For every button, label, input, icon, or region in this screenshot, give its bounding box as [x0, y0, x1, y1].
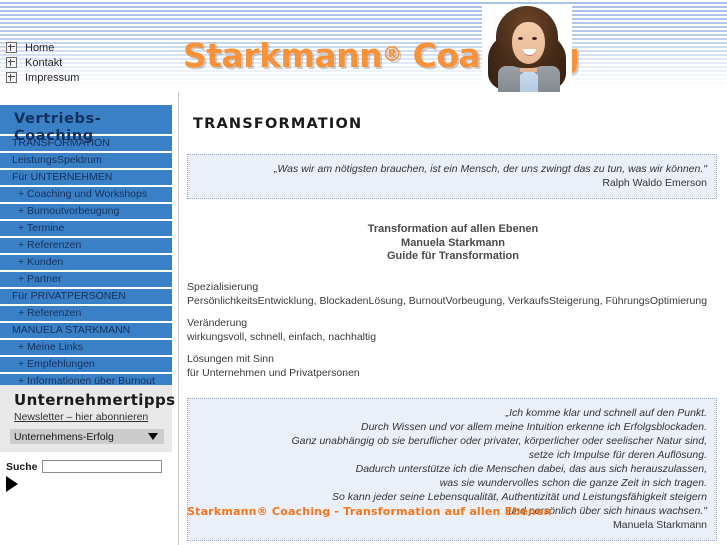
sidebar: Vertriebs-Coaching TRANSFORMATION Leistu…	[0, 105, 172, 406]
search-label: Suche	[6, 461, 38, 473]
chevron-down-icon	[148, 433, 158, 440]
main-content: TRANSFORMATION „Was wir am nötigsten bra…	[178, 92, 727, 545]
bottom-quote-line-5: Dadurch unterstütze ich die Menschen dab…	[197, 462, 707, 476]
registered-trademark-icon: ®	[382, 42, 402, 66]
topnav-item-home[interactable]: Home	[0, 40, 170, 55]
sidebar-item-leistungsspektrum[interactable]: LeistungsSpektrum	[0, 153, 172, 168]
topnav-label-impressum: Impressum	[25, 72, 79, 84]
play-arrow-icon[interactable]	[6, 476, 18, 492]
bottom-quote-line-1: „Ich komme klar und schnell auf den Punk…	[197, 406, 707, 420]
spacer	[187, 308, 727, 316]
headline-line-1: Transformation auf allen Ebenen	[179, 223, 727, 237]
topnav-item-impressum[interactable]: Impressum	[0, 70, 170, 85]
sidebar-title: Vertriebs-Coaching	[0, 105, 172, 134]
top-quote-box: „Was wir am nötigsten brauchen, ist ein …	[187, 154, 717, 199]
plus-box-icon	[6, 42, 17, 53]
logo-word-starkmann: Starkmann	[183, 36, 382, 75]
unternehmertipps-title: Unternehmertipps	[0, 391, 172, 409]
headline-block: Transformation auf allen Ebenen Manuela …	[179, 223, 727, 264]
search-input[interactable]	[42, 460, 162, 473]
top-navigation: Home Kontakt Impressum	[0, 40, 170, 85]
plus-box-icon	[6, 57, 17, 68]
headline-line-2: Manuela Starkmann	[179, 237, 727, 251]
page-title: TRANSFORMATION	[193, 116, 727, 132]
topnav-label-home: Home	[25, 42, 54, 54]
sidebar-item-coaching-und-workshops[interactable]: + Coaching und Workshops	[0, 187, 172, 202]
sidebar-item-kunden[interactable]: + Kunden	[0, 255, 172, 270]
right-eye-shape	[532, 37, 537, 40]
body-sections: Spezialisierung PersönlichkeitsEntwicklu…	[187, 280, 727, 380]
search-area: Suche	[0, 460, 172, 492]
section-heading-loesungen-mit-sinn: Lösungen mit Sinn	[187, 352, 727, 366]
section-text-loesungen-mit-sinn: für Unternehmen und Privatpersonen	[187, 366, 727, 380]
unternehmertipps-dropdown[interactable]: Unternehmens-Erfolg	[10, 429, 164, 444]
spacer	[187, 344, 727, 352]
sidebar-item-termine[interactable]: + Termine	[0, 221, 172, 236]
sidebar-item-empfehlungen[interactable]: + Empfehlungen	[0, 357, 172, 372]
plus-box-icon	[6, 72, 17, 83]
top-quote-text: „Was wir am nötigsten brauchen, ist ein …	[197, 162, 707, 176]
sidebar-item-fuer-unternehmen[interactable]: Für UNTERNEHMEN	[0, 170, 172, 185]
sidebar-item-partner[interactable]: + Partner	[0, 272, 172, 287]
bottom-quote-line-4: setze ich Impulse für deren Auflösung.	[197, 448, 707, 462]
sidebar-item-transformation[interactable]: TRANSFORMATION	[0, 136, 172, 151]
unternehmertipps-panel: Unternehmertipps Newsletter – hier abonn…	[0, 385, 172, 452]
face-shape	[512, 22, 545, 64]
site-logo[interactable]: Starkmann® Coaching	[183, 34, 493, 82]
section-heading-veraenderung: Veränderung	[187, 316, 727, 330]
top-quote-author: Ralph Waldo Emerson	[197, 176, 707, 190]
topnav-label-kontakt: Kontakt	[25, 57, 62, 69]
section-text-veraenderung: wirkungsvoll, schnell, einfach, nachhalt…	[187, 330, 727, 344]
dropdown-selected-value: Unternehmens-Erfolg	[14, 431, 114, 443]
sidebar-item-meine-links[interactable]: + Meine Links	[0, 340, 172, 355]
bottom-quote-line-2: Durch Wissen und vor allem meine Intuiti…	[197, 420, 707, 434]
newsletter-subscribe-link[interactable]: Newsletter – hier abonnieren	[0, 411, 172, 423]
bottom-quote-line-7: So kann jeder seine Lebensqualität, Auth…	[197, 490, 707, 504]
sidebar-item-manuela-starkmann[interactable]: MANUELA STARKMANN	[0, 323, 172, 338]
search-row: Suche	[0, 460, 172, 473]
footer-tagline: Starkmann® Coaching - Transformation auf…	[187, 505, 552, 518]
coach-portrait-photo	[482, 4, 572, 92]
sidebar-item-burnoutvorbeugung[interactable]: + Burnoutvorbeugung	[0, 204, 172, 219]
topnav-item-kontakt[interactable]: Kontakt	[0, 55, 170, 70]
bottom-quote-author: Manuela Starkmann	[197, 518, 707, 532]
section-heading-spezialisierung: Spezialisierung	[187, 280, 727, 294]
bottom-quote-line-3: Ganz unabhängig ob sie beruflicher oder …	[197, 434, 707, 448]
section-text-spezialisierung: PersönlichkeitsEntwicklung, BlockadenLös…	[187, 294, 727, 308]
sidebar-item-fuer-privatpersonen[interactable]: Für PRIVATPERSONEN	[0, 289, 172, 304]
sidebar-item-referenzen-unternehmen[interactable]: + Referenzen	[0, 238, 172, 253]
site-logo-text: Starkmann® Coaching	[183, 34, 493, 76]
left-eye-shape	[518, 37, 523, 40]
bottom-quote-box: „Ich komme klar und schnell auf den Punk…	[187, 398, 717, 541]
sidebar-item-referenzen-privat[interactable]: + Referenzen	[0, 306, 172, 321]
headline-line-3: Guide für Transformation	[179, 250, 727, 264]
bottom-quote-line-6: was sie wundervolles schon die ganze Zei…	[197, 476, 707, 490]
